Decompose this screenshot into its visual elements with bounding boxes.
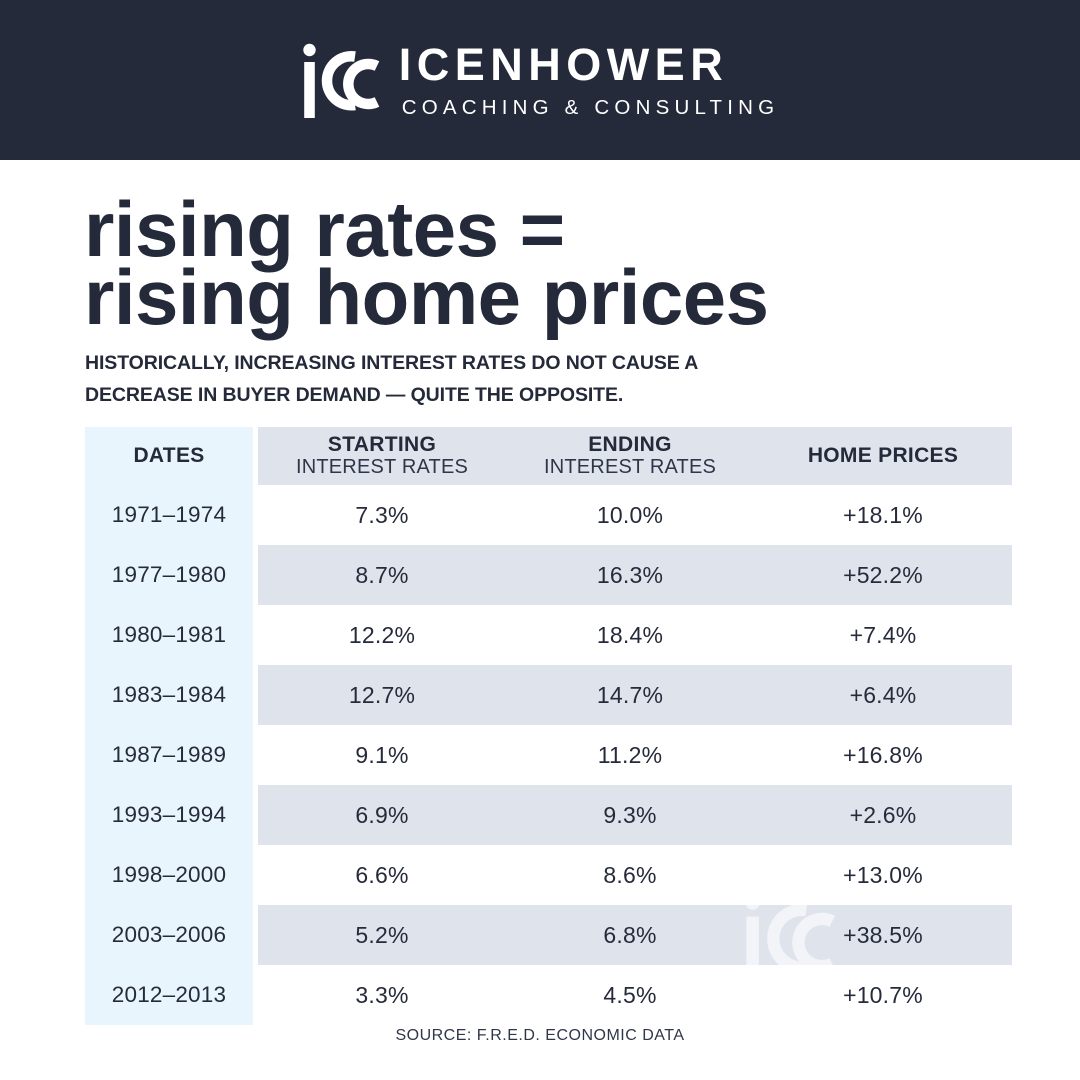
table-row: 1971–19747.3%10.0%+18.1% xyxy=(85,485,1012,545)
cell-dates: 1993–1994 xyxy=(85,785,253,845)
table-row: 1980–198112.2%18.4%+7.4% xyxy=(85,605,1012,665)
cell-ending-rate: 8.6% xyxy=(506,845,754,905)
cell-ending-rate: 10.0% xyxy=(506,485,754,545)
column-header-starting: STARTING INTEREST RATES xyxy=(258,427,506,485)
cell-ending-rate: 18.4% xyxy=(506,605,754,665)
rates-table: DATES STARTING INTEREST RATES ENDING INT… xyxy=(85,427,1012,1025)
column-header-dates-label: DATES xyxy=(133,444,204,468)
cell-ending-rate: 9.3% xyxy=(506,785,754,845)
column-header-ending-label: ENDING xyxy=(588,433,671,457)
cell-dates: 1980–1981 xyxy=(85,605,253,665)
brand-wordmark: ICENHOWER COACHING & CONSULTING xyxy=(399,42,780,119)
cell-home-price: +7.4% xyxy=(754,605,1012,665)
table-row: 1998–20006.6%8.6%+13.0% xyxy=(85,845,1012,905)
cell-dates: 2012–2013 xyxy=(85,965,253,1025)
cell-home-price: +52.2% xyxy=(754,545,1012,605)
cell-ending-rate: 4.5% xyxy=(506,965,754,1025)
cell-ending-rate: 14.7% xyxy=(506,665,754,725)
icc-monogram-icon xyxy=(301,42,383,120)
cell-home-price: +2.6% xyxy=(754,785,1012,845)
subtitle-line-2: DECREASE IN BUYER DEMAND — QUITE THE OPP… xyxy=(85,380,805,412)
column-header-ending: ENDING INTEREST RATES xyxy=(506,427,754,485)
table-row: 1983–198412.7%14.7%+6.4% xyxy=(85,665,1012,725)
table-row: 1987–19899.1%11.2%+16.8% xyxy=(85,725,1012,785)
infographic-page: ICENHOWER COACHING & CONSULTING rising r… xyxy=(0,0,1080,1080)
cell-home-price: +18.1% xyxy=(754,485,1012,545)
column-header-dates: DATES xyxy=(85,427,253,485)
brand-name: ICENHOWER xyxy=(399,42,780,87)
cell-home-price: +38.5% xyxy=(754,905,1012,965)
table-row: 1993–19946.9%9.3%+2.6% xyxy=(85,785,1012,845)
table-body: 1971–19747.3%10.0%+18.1%1977–19808.7%16.… xyxy=(85,485,1012,1025)
cell-dates: 1983–1984 xyxy=(85,665,253,725)
cell-starting-rate: 8.7% xyxy=(258,545,506,605)
cell-starting-rate: 5.2% xyxy=(258,905,506,965)
cell-starting-rate: 7.3% xyxy=(258,485,506,545)
cell-home-price: +13.0% xyxy=(754,845,1012,905)
cell-starting-rate: 6.6% xyxy=(258,845,506,905)
cell-dates: 1977–1980 xyxy=(85,545,253,605)
cell-ending-rate: 16.3% xyxy=(506,545,754,605)
cell-ending-rate: 6.8% xyxy=(506,905,754,965)
column-header-starting-sublabel: INTEREST RATES xyxy=(296,456,468,479)
column-header-ending-sublabel: INTEREST RATES xyxy=(544,456,716,479)
cell-dates: 1987–1989 xyxy=(85,725,253,785)
headline-line-2: rising home prices xyxy=(84,264,984,332)
cell-starting-rate: 12.2% xyxy=(258,605,506,665)
column-header-home-prices: HOME PRICES xyxy=(754,427,1012,485)
subtitle-line-1: HISTORICALLY, INCREASING INTEREST RATES … xyxy=(85,348,805,380)
table-row: 2012–20133.3%4.5%+10.7% xyxy=(85,965,1012,1025)
page-title: rising rates = rising home prices xyxy=(84,196,984,332)
table-row: 2003–20065.2%6.8%+38.5% xyxy=(85,905,1012,965)
brand-lockup: ICENHOWER COACHING & CONSULTING xyxy=(301,40,780,120)
cell-starting-rate: 12.7% xyxy=(258,665,506,725)
cell-starting-rate: 3.3% xyxy=(258,965,506,1025)
cell-home-price: +10.7% xyxy=(754,965,1012,1025)
cell-home-price: +6.4% xyxy=(754,665,1012,725)
brand-header-bar: ICENHOWER COACHING & CONSULTING xyxy=(0,0,1080,160)
cell-dates: 1971–1974 xyxy=(85,485,253,545)
cell-home-price: +16.8% xyxy=(754,725,1012,785)
column-header-home-prices-label: HOME PRICES xyxy=(808,444,958,468)
cell-dates: 1998–2000 xyxy=(85,845,253,905)
page-subtitle: HISTORICALLY, INCREASING INTEREST RATES … xyxy=(85,348,805,411)
source-note: SOURCE: F.R.E.D. ECONOMIC DATA xyxy=(0,1027,1080,1045)
cell-starting-rate: 9.1% xyxy=(258,725,506,785)
cell-ending-rate: 11.2% xyxy=(506,725,754,785)
cell-dates: 2003–2006 xyxy=(85,905,253,965)
brand-tagline: COACHING & CONSULTING xyxy=(402,98,780,119)
table-row: 1977–19808.7%16.3%+52.2% xyxy=(85,545,1012,605)
column-header-starting-label: STARTING xyxy=(328,433,436,457)
cell-starting-rate: 6.9% xyxy=(258,785,506,845)
table-header-row: DATES STARTING INTEREST RATES ENDING INT… xyxy=(85,427,1012,485)
